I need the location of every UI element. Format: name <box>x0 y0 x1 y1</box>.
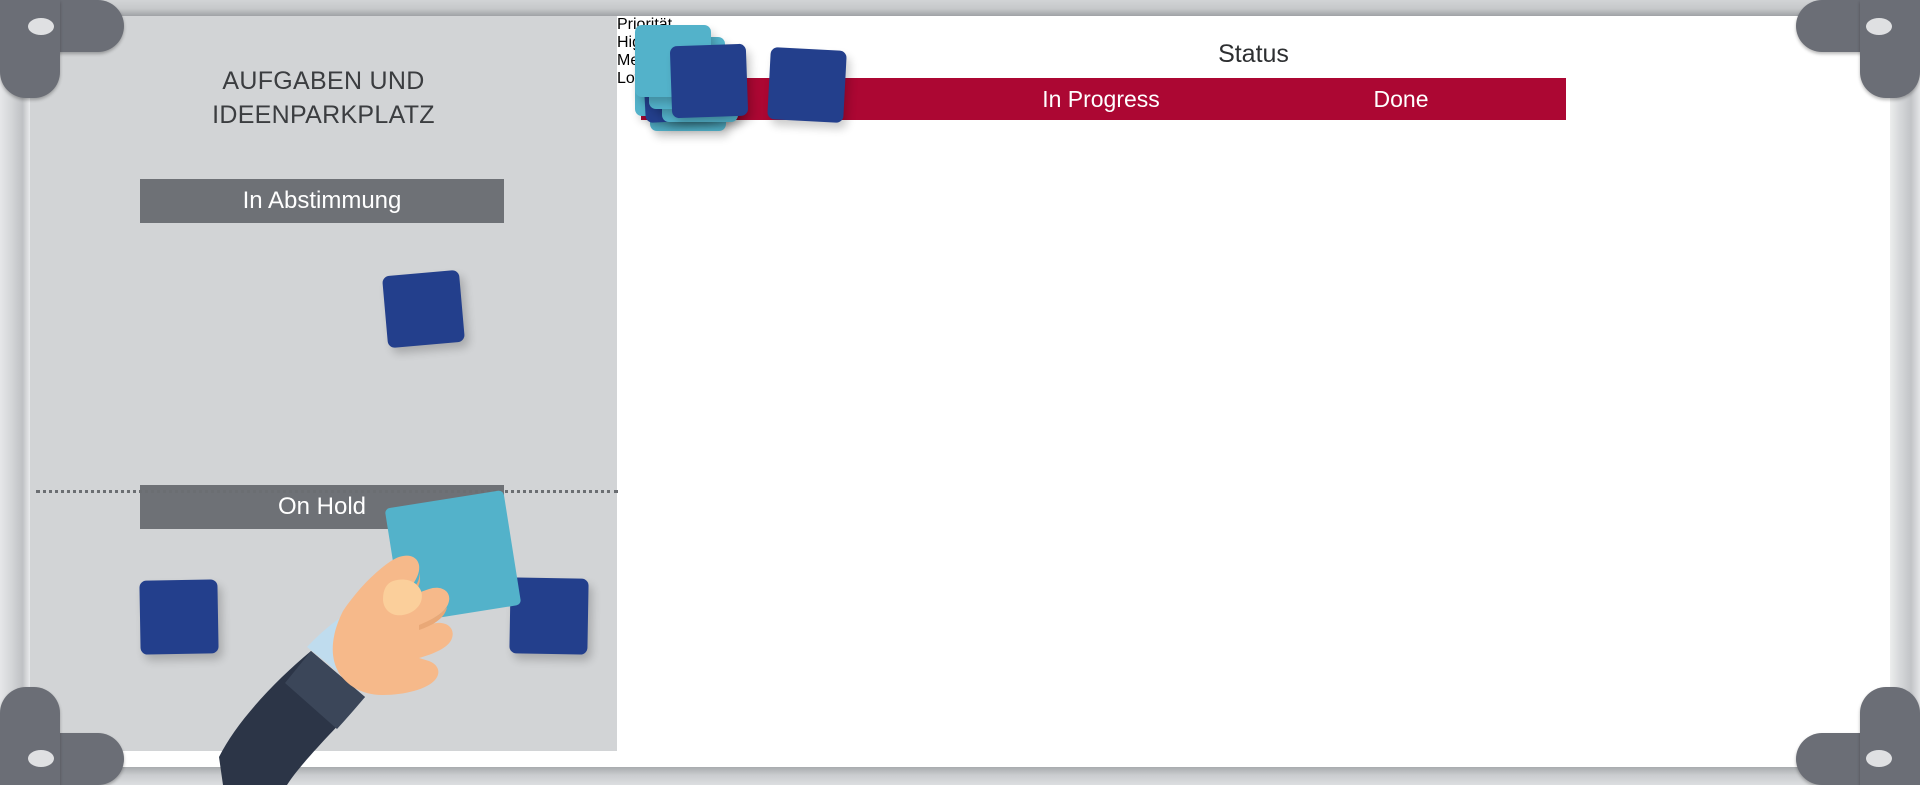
board-rail-top <box>0 0 1920 16</box>
corner-bracket-top-left <box>0 0 124 98</box>
screw-rivet-icon <box>28 18 54 35</box>
whiteboard: AUFGABEN UND IDEENPARKPLATZ In Abstimmun… <box>0 0 1920 785</box>
corner-bracket-arm-vertical <box>1860 687 1920 785</box>
note-low-in-progress-1[interactable] <box>670 44 748 119</box>
note-onhold-1[interactable] <box>139 579 218 654</box>
note-abstimmung-1[interactable] <box>382 270 465 348</box>
screw-rivet-icon <box>28 750 54 767</box>
kanban-grid-area: Status ToDo In Progress Done Priorität H… <box>617 16 1890 751</box>
hand-holding-note-icon <box>215 485 545 785</box>
axis-title-prioritaet: Priorität <box>617 16 1890 34</box>
board-rail-right <box>1890 0 1920 785</box>
corner-bracket-arm-vertical <box>1860 0 1920 98</box>
corner-bracket-top-right <box>1796 0 1920 98</box>
cell-high-done[interactable] <box>617 378 947 523</box>
note-medium-todo-2[interactable] <box>767 47 847 123</box>
screw-rivet-icon <box>1866 18 1892 35</box>
cell-medium-in-progress[interactable] <box>617 668 947 785</box>
screw-rivet-icon <box>1866 750 1892 767</box>
corner-bracket-arm-vertical <box>0 687 60 785</box>
cell-high-in-progress[interactable] <box>617 233 947 378</box>
status-chip-in-abstimmung[interactable]: In Abstimmung <box>140 179 504 223</box>
column-header-in-progress[interactable]: In Progress <box>936 78 1266 120</box>
corner-bracket-bottom-right <box>1796 687 1920 785</box>
board-rail-left <box>0 0 30 785</box>
column-header-done-label: Done <box>1374 86 1429 113</box>
corner-bracket-arm-vertical <box>0 0 60 98</box>
column-header-done[interactable]: Done <box>1236 78 1566 120</box>
corner-bracket-bottom-left <box>0 687 124 785</box>
status-chip-in-abstimmung-label: In Abstimmung <box>243 187 402 215</box>
column-header-in-progress-label: In Progress <box>1042 86 1160 113</box>
cell-medium-todo[interactable] <box>617 523 947 668</box>
panel-title-line-2: IDEENPARKPLATZ <box>30 98 617 132</box>
